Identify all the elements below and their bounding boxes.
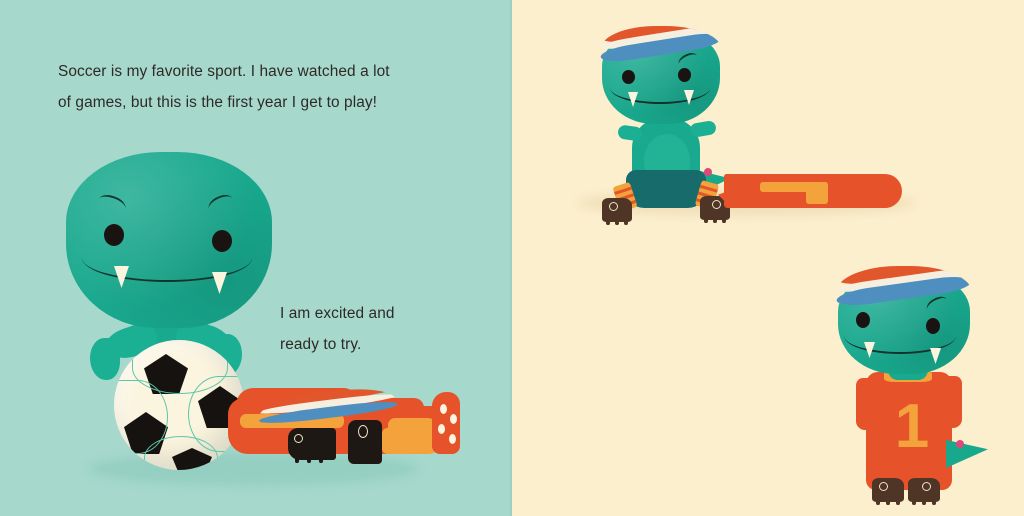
cleat-stud [896,500,900,505]
dino-shorts [626,170,706,208]
dinosaur-standing-jersey: 1 [814,256,1014,506]
left-page-text-bottom: I am excited and ready to try. [280,298,460,360]
dino-eye-left [104,224,124,246]
headband [600,26,722,66]
dino-eye-right [212,230,232,252]
cleat-stud [713,218,717,223]
cleat-stud [912,500,916,505]
cleat-eyelet [294,434,303,443]
left-page: Soccer is my favorite sport. I have watc… [0,0,512,516]
sole-stud [449,434,456,444]
cleat-eyelet [879,482,888,491]
dino-eye-left [622,70,635,84]
sole-stud [438,424,445,434]
cleat-stud [606,220,610,225]
dino-tail-dot [956,440,964,448]
jersey-number: 1 [892,396,932,458]
picture-book-spread: Soccer is my favorite sport. I have watc… [0,0,1024,516]
headband [836,266,972,310]
cleat-stud [319,458,323,463]
left-page-text-top: Soccer is my favorite sport. I have watc… [58,56,458,118]
cleat-stud [307,458,311,463]
cleat-left [602,198,632,222]
cleat-stud [886,500,890,505]
dino-arm-right [689,120,717,138]
cleat-eyelet [712,200,721,209]
dino-head [66,152,272,328]
cleat-stud [615,220,619,225]
page-gutter [510,0,512,516]
cleat-stud [295,458,299,463]
dino-eye-left [856,312,870,328]
cleat-stud [922,500,926,505]
sock-stripe [700,185,718,193]
cleat-eyelet [922,482,931,491]
dino-hand-left [90,338,120,380]
cleat-pile-right [348,420,382,464]
sole-stud [450,414,457,424]
dino-tail [946,432,988,468]
cleat-right [908,478,940,502]
right-page: I have my shin protectors, my cleats, an… [512,0,1024,516]
cleat-stud [932,500,936,505]
jersey-sleeve-left [856,378,874,430]
cleat-stud [722,218,726,223]
cleat-pile-left [288,428,336,460]
cleat-stud [704,218,708,223]
jersey-flat-number-stem [806,182,828,204]
dino-tail-dot [704,168,712,176]
cleat-stud [876,500,880,505]
cleat-left [872,478,904,502]
cleat-stud [624,220,628,225]
cleat-sole-red [432,392,460,454]
dino-arm-left [617,124,643,141]
jersey-sleeve-right [944,376,962,428]
soccer-ball [114,340,244,470]
sole-stud [440,404,447,414]
cleat-eyelet [609,202,618,211]
dino-eye-right [678,68,691,82]
cleat-eyelet [358,425,368,438]
dino-eye-right [926,318,940,334]
